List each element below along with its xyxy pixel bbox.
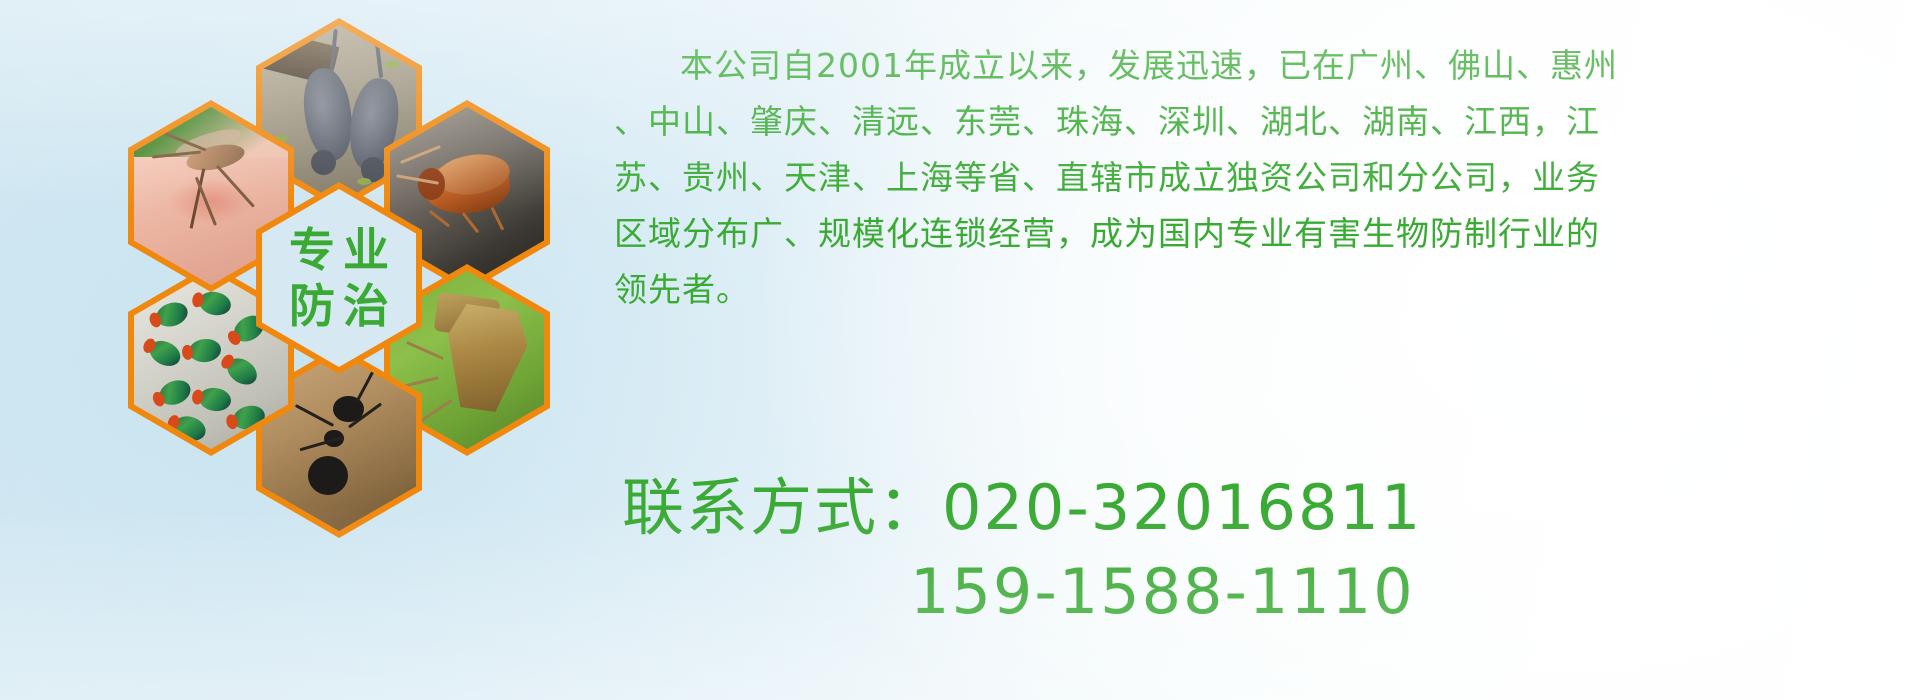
company-intro-paragraph: 本公司自2001年成立以来，发展迅速，已在广州、佛山、惠州 、中山、肇庆、清远、…: [614, 38, 1914, 318]
intro-line: 苏、贵州、天津、上海等省、直辖市成立独资公司和分公司，业务: [614, 150, 1914, 206]
intro-line: 区域分布广、规模化连锁经营，成为国内专业有害生物防制行业的: [614, 206, 1914, 262]
center-label-line-1: 专业: [281, 227, 397, 273]
center-label-line-2: 防治: [281, 283, 397, 329]
contact-phone-landline[interactable]: 联系方式：020-32016811: [622, 466, 1902, 550]
contact-block: 联系方式：020-32016811 159-1588-1110: [622, 466, 1902, 634]
honeycomb-graphic: 专业 防治: [88, 10, 588, 570]
contact-phone-mobile[interactable]: 159-1588-1110: [622, 550, 1902, 634]
intro-line: 领先者。: [614, 262, 1914, 318]
hex-inner: 专业 防治: [262, 189, 416, 367]
center-label: 专业 防治: [262, 189, 416, 367]
intro-line: 本公司自2001年成立以来，发展迅速，已在广州、佛山、惠州: [614, 38, 1914, 94]
promo-banner: 专业 防治 本公司自2001年成立以来，发展迅速，已在广州、佛山、惠州 、中山、…: [0, 0, 1920, 700]
intro-line: 、中山、肇庆、清远、东莞、珠海、深圳、湖北、湖南、江西，江: [614, 94, 1914, 150]
